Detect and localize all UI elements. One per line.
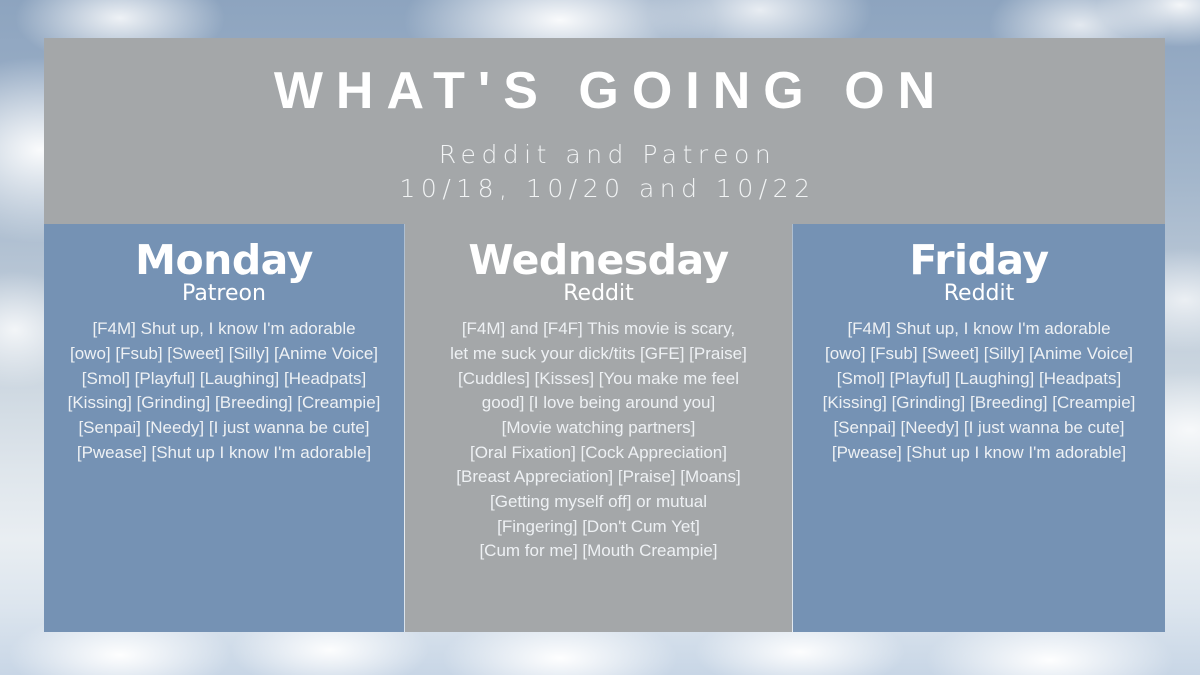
poster-subtitle: Reddit and Patreon 10/18, 10/20 and 10/2… bbox=[44, 138, 1165, 206]
poster-header-band: WHAT'S GOING ON Reddit and Patreon 10/18… bbox=[44, 38, 1165, 224]
day-lines-friday: [F4M] Shut up, I know I'm adorable [owo]… bbox=[797, 317, 1161, 465]
schedule-line: [F4M] Shut up, I know I'm adorable bbox=[797, 317, 1161, 342]
schedule-line: [Pwease] [Shut up I know I'm adorable] bbox=[797, 441, 1161, 466]
day-lines-wednesday: [F4M] and [F4F] This movie is scary, let… bbox=[409, 317, 788, 564]
schedule-line: let me suck your dick/tits [GFE] [Praise… bbox=[409, 342, 788, 367]
schedule-line: [Smol] [Playful] [Laughing] [Headpats] bbox=[48, 367, 400, 392]
schedule-line: [F4M] and [F4F] This movie is scary, bbox=[409, 317, 788, 342]
day-column-wednesday: Wednesday Reddit [F4M] and [F4F] This mo… bbox=[405, 224, 792, 632]
day-lines-monday: [F4M] Shut up, I know I'm adorable [owo]… bbox=[48, 317, 400, 465]
day-platform-wednesday: Reddit bbox=[409, 281, 788, 305]
schedule-line: [Kissing] [Grinding] [Breeding] [Creampi… bbox=[797, 391, 1161, 416]
day-heading-wednesday: Wednesday bbox=[409, 234, 788, 281]
day-platform-monday: Patreon bbox=[48, 281, 400, 305]
schedule-line: [Cuddles] [Kisses] [You make me feel bbox=[409, 367, 788, 392]
schedule-line: [Fingering] [Don't Cum Yet] bbox=[409, 515, 788, 540]
schedule-line: [Breast Appreciation] [Praise] [Moans] bbox=[409, 465, 788, 490]
schedule-line: good] [I love being around you] bbox=[409, 391, 788, 416]
schedule-line: [Senpai] [Needy] [I just wanna be cute] bbox=[48, 416, 400, 441]
schedule-line: [owo] [Fsub] [Sweet] [Silly] [Anime Voic… bbox=[48, 342, 400, 367]
page-title: WHAT'S GOING ON bbox=[44, 62, 1165, 120]
subtitle-dates: 10/18, 10/20 and 10/22 bbox=[44, 172, 1165, 206]
schedule-line: [Cum for me] [Mouth Creampie] bbox=[409, 539, 788, 564]
schedule-line: [Pwease] [Shut up I know I'm adorable] bbox=[48, 441, 400, 466]
schedule-poster: WHAT'S GOING ON Reddit and Patreon 10/18… bbox=[44, 38, 1165, 632]
subtitle-platforms: Reddit and Patreon bbox=[44, 138, 1165, 172]
day-column-monday: Monday Patreon [F4M] Shut up, I know I'm… bbox=[44, 224, 404, 632]
day-column-friday: Friday Reddit [F4M] Shut up, I know I'm … bbox=[793, 224, 1165, 632]
day-heading-monday: Monday bbox=[48, 234, 400, 281]
schedule-line: [Movie watching partners] bbox=[409, 416, 788, 441]
schedule-line: [F4M] Shut up, I know I'm adorable bbox=[48, 317, 400, 342]
schedule-line: [Getting myself off] or mutual bbox=[409, 490, 788, 515]
day-heading-friday: Friday bbox=[797, 234, 1161, 281]
schedule-line: [Kissing] [Grinding] [Breeding] [Creampi… bbox=[48, 391, 400, 416]
schedule-line: [Oral Fixation] [Cock Appreciation] bbox=[409, 441, 788, 466]
schedule-line: [Smol] [Playful] [Laughing] [Headpats] bbox=[797, 367, 1161, 392]
day-platform-friday: Reddit bbox=[797, 281, 1161, 305]
schedule-line: [owo] [Fsub] [Sweet] [Silly] [Anime Voic… bbox=[797, 342, 1161, 367]
schedule-line: [Senpai] [Needy] [I just wanna be cute] bbox=[797, 416, 1161, 441]
schedule-columns: Monday Patreon [F4M] Shut up, I know I'm… bbox=[44, 224, 1165, 632]
